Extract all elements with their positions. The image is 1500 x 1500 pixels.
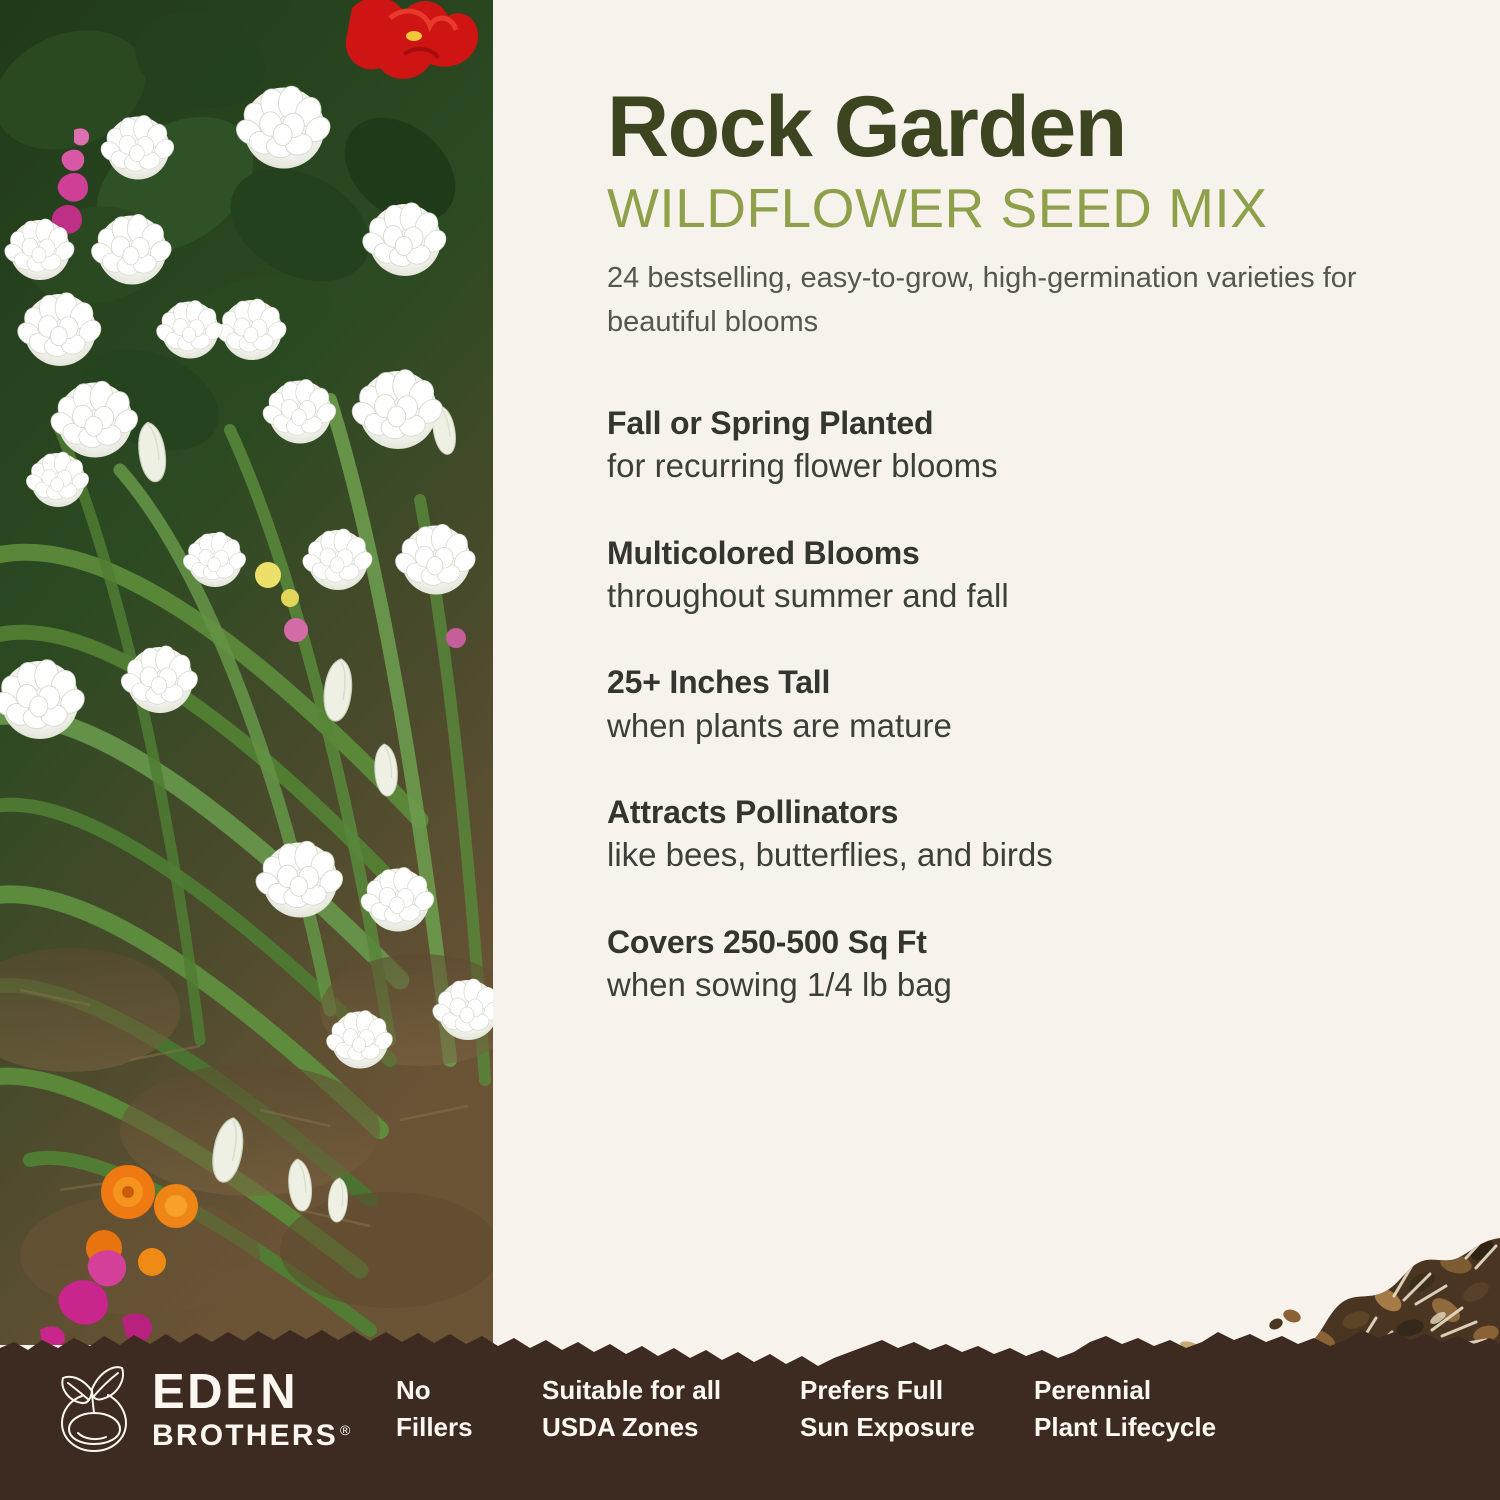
product-info-panel: Rock Garden WILDFLOWER SEED MIX 24 bests…: [607, 0, 1467, 1007]
feature-headline: Covers 250-500 Sq Ft: [607, 921, 1467, 963]
feature-item: 25+ Inches Tall when plants are mature: [607, 661, 1467, 747]
product-description: 24 bestselling, easy-to-grow, high-germi…: [607, 256, 1397, 344]
feature-subtext: throughout summer and fall: [607, 574, 1467, 618]
brand-name-eden: EDEN: [152, 1368, 350, 1417]
registered-trademark-icon: ®: [340, 1423, 350, 1437]
footer-badge-sun-exposure: Prefers Full Sun Exposure: [800, 1372, 1034, 1446]
feature-subtext: for recurring flower blooms: [607, 444, 1467, 488]
product-photo: [0, 0, 493, 1345]
footer-badge-usda-zones: Suitable for all USDA Zones: [542, 1372, 800, 1446]
badge-line-1: No: [396, 1372, 542, 1409]
badge-line-1: Prefers Full: [800, 1372, 1034, 1409]
feature-headline: 25+ Inches Tall: [607, 661, 1467, 703]
footer-badge-list: No Fillers Suitable for all USDA Zones P…: [396, 1372, 1274, 1446]
seedling-sprout-icon: [52, 1363, 136, 1455]
footer-content: EDEN BROTHERS ® No Fillers Suitable for …: [0, 1318, 1500, 1500]
feature-headline: Fall or Spring Planted: [607, 402, 1467, 444]
feature-item: Multicolored Blooms throughout summer an…: [607, 532, 1467, 618]
feature-headline: Multicolored Blooms: [607, 532, 1467, 574]
feature-item: Attracts Pollinators like bees, butterfl…: [607, 791, 1467, 877]
brand-name-brothers: BROTHERS: [152, 1421, 338, 1451]
footer-badge-no-fillers: No Fillers: [396, 1372, 542, 1446]
page-title: Rock Garden: [607, 84, 1467, 170]
brand-logo: EDEN BROTHERS ®: [52, 1363, 352, 1455]
footer-badge-plant-lifecycle: Perennial Plant Lifecycle: [1034, 1372, 1274, 1446]
brand-wordmark: EDEN BROTHERS ®: [152, 1368, 350, 1451]
feature-item: Fall or Spring Planted for recurring flo…: [607, 402, 1467, 488]
badge-line-2: Plant Lifecycle: [1034, 1409, 1274, 1446]
badge-line-2: USDA Zones: [542, 1409, 800, 1446]
feature-subtext: when plants are mature: [607, 704, 1467, 748]
badge-line-1: Suitable for all: [542, 1372, 800, 1409]
badge-line-1: Perennial: [1034, 1372, 1274, 1409]
badge-line-2: Sun Exposure: [800, 1409, 1034, 1446]
product-infographic: Rock Garden WILDFLOWER SEED MIX 24 bests…: [0, 0, 1500, 1500]
feature-headline: Attracts Pollinators: [607, 791, 1467, 833]
footer-band: EDEN BROTHERS ® No Fillers Suitable for …: [0, 1318, 1500, 1500]
feature-list: Fall or Spring Planted for recurring flo…: [607, 402, 1467, 1007]
garden-photo-illustration: [0, 0, 493, 1345]
feature-subtext: when sowing 1/4 lb bag: [607, 963, 1467, 1007]
product-subtitle: WILDFLOWER SEED MIX: [607, 180, 1467, 238]
feature-item: Covers 250-500 Sq Ft when sowing 1/4 lb …: [607, 921, 1467, 1007]
feature-subtext: like bees, butterflies, and birds: [607, 833, 1467, 877]
title-block: Rock Garden WILDFLOWER SEED MIX 24 bests…: [607, 0, 1467, 344]
badge-line-2: Fillers: [396, 1409, 542, 1446]
